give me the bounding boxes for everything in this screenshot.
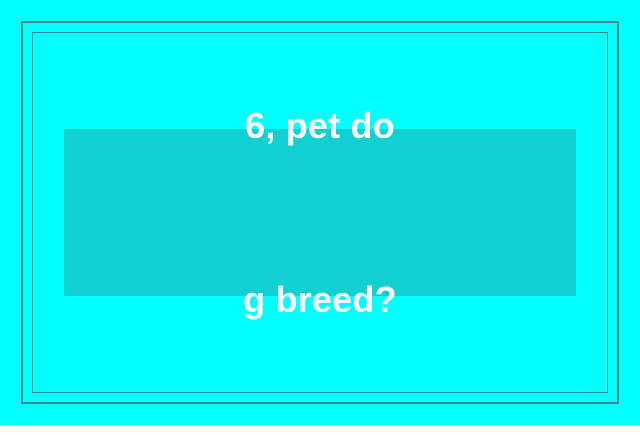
caption-text: 6, pet do g breed? (243, 0, 397, 445)
caption-line-2: g breed? (243, 271, 397, 329)
caption-line-1: 6, pet do (243, 97, 397, 155)
poster-canvas: 6, pet do g breed? (0, 0, 640, 425)
caption-banner: 6, pet do g breed? (64, 129, 576, 296)
